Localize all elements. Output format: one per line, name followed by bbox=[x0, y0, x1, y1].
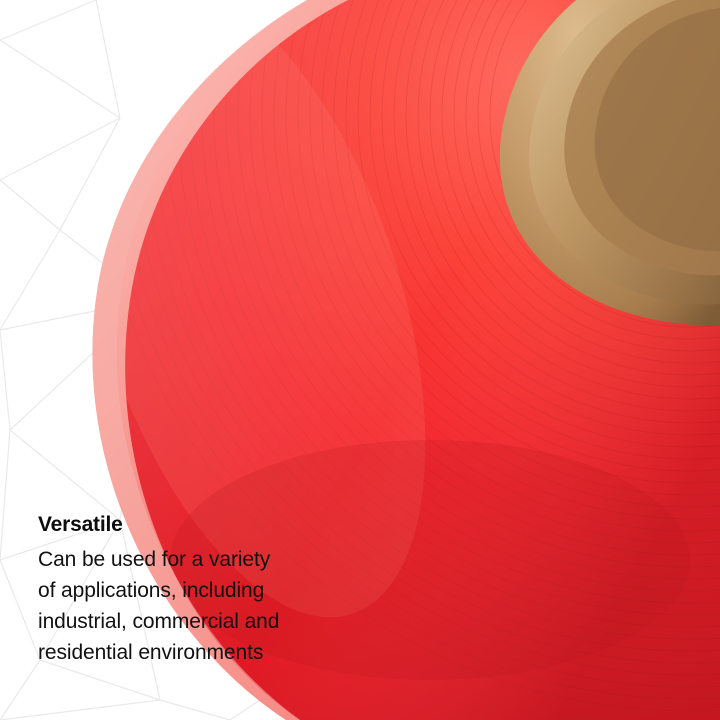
caption-headline: Versatile bbox=[38, 512, 378, 538]
caption-body: Can be used for a variety of application… bbox=[38, 544, 378, 668]
caption-block: Versatile Can be used for a variety of a… bbox=[38, 512, 378, 669]
product-feature-image: Versatile Can be used for a variety of a… bbox=[0, 0, 720, 720]
